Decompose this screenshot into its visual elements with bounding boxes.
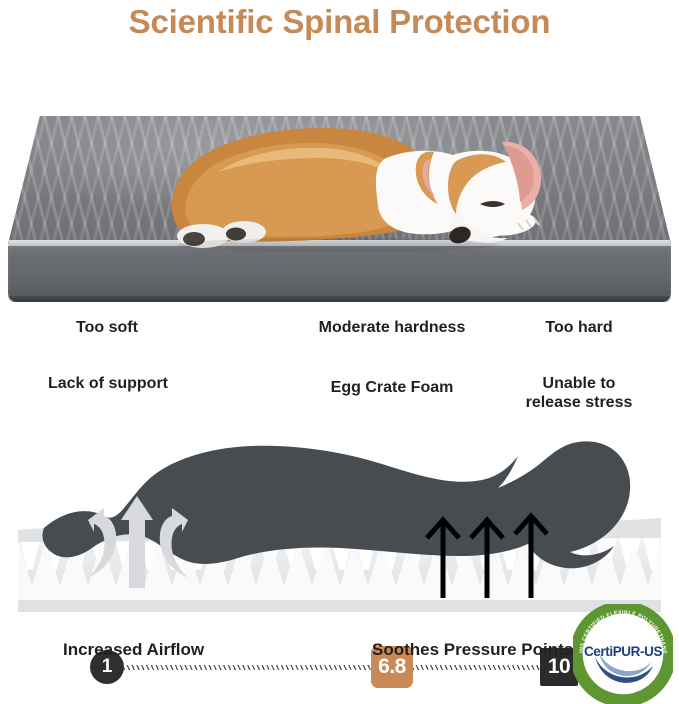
bed-side-panel <box>8 246 671 302</box>
pressure-arrows <box>427 516 547 598</box>
hero-product-image <box>0 46 679 298</box>
scale-bottom-label-right-wrap: Unable to release stress <box>479 374 679 412</box>
label-increased-airflow: Increased Airflow <box>63 640 204 660</box>
certipur-brand: CertiPUR-US <box>584 644 663 659</box>
scale-top-label-middle: Moderate hardness <box>292 318 492 338</box>
scale-top-label-right: Too hard <box>479 318 679 338</box>
infographic-page: Scientific Spinal Protection <box>0 0 679 691</box>
scale-bottom-label-right-line2: release stress <box>479 393 679 412</box>
hardness-scale: Too soft 1 Lack of support Moderate hard… <box>0 306 679 416</box>
label-soothes-pressure-points: Soothes Pressure Points <box>372 640 573 660</box>
scale-bottom-label-middle-wrap: Egg Crate Foam <box>292 378 492 397</box>
scale-point-too-hard: Too hard <box>479 318 679 338</box>
scale-bottom-label-left-wrap: Lack of support <box>8 374 208 393</box>
scale-point-too-soft: Too soft <box>22 318 192 338</box>
scale-bottom-label-right-line1: Unable to <box>479 374 679 393</box>
scale-bottom-label-left: Lack of support <box>8 374 208 393</box>
scale-point-moderate: Moderate hardness <box>292 318 492 338</box>
dog-bed <box>8 116 671 296</box>
scale-bottom-label-middle: Egg Crate Foam <box>292 378 492 397</box>
page-title: Scientific Spinal Protection <box>0 0 679 44</box>
corgi-dog <box>158 112 558 252</box>
certipur-us-logo: CertiPUR-US CONTAINS CERTIFIED FLEXIBLE … <box>573 604 673 704</box>
scale-top-label-left: Too soft <box>22 318 192 338</box>
